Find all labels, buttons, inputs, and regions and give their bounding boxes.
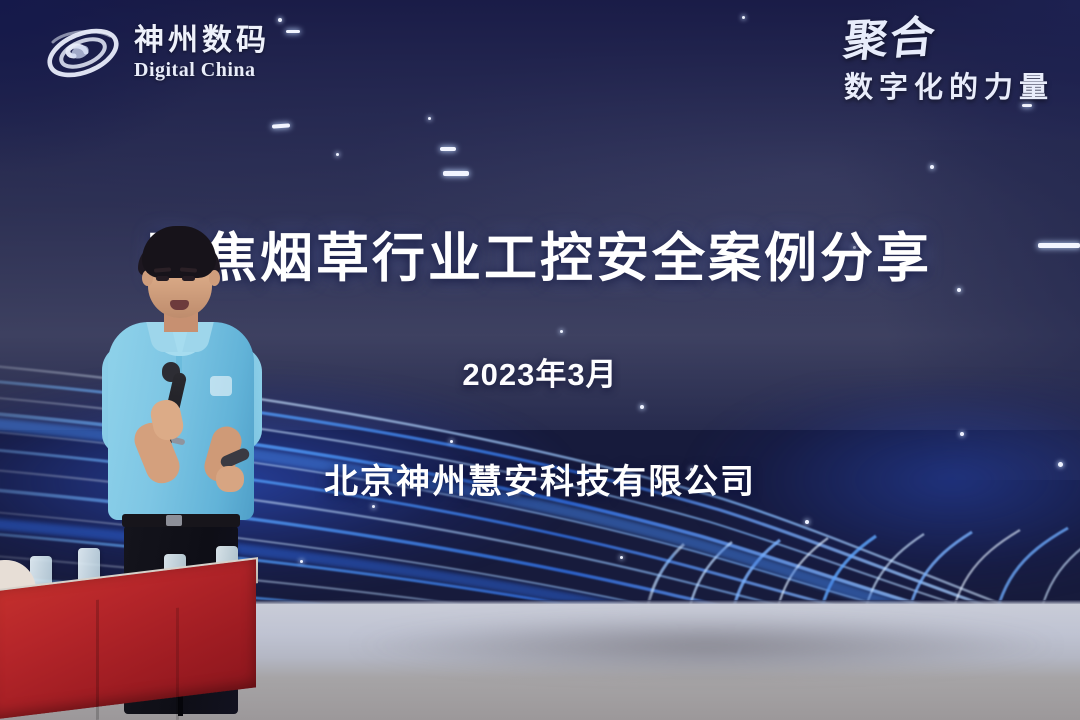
- speaker-right-hand: [216, 466, 244, 492]
- event-theme-lockup: 聚合 数字化的力量: [844, 18, 1054, 106]
- logo-name-en: Digital China: [134, 60, 270, 80]
- speaker-belt-buckle: [166, 515, 182, 526]
- speaker-eye-right: [182, 276, 195, 281]
- particle-dot: [805, 520, 809, 524]
- light-streak-particle: [286, 30, 300, 33]
- event-theme-tagline: 数字化的力量: [844, 64, 1054, 106]
- particle-dot: [336, 153, 339, 156]
- particle-dot: [640, 405, 644, 409]
- speaker-mouth: [170, 300, 189, 310]
- particle-dot: [428, 117, 431, 120]
- particle-dot: [930, 165, 934, 169]
- table-cloth-fold: [96, 600, 99, 720]
- table-cloth-fold: [176, 608, 179, 720]
- light-streak-particle: [443, 171, 469, 176]
- stage-floor-shadow: [250, 610, 1080, 680]
- conference-photo: 聚焦烟草行业工控安全案例分享 2023年3月 北京神州慧安科技有限公司 神州数码…: [0, 0, 1080, 720]
- particle-dot: [742, 16, 745, 19]
- particle-dot: [372, 505, 375, 508]
- particle-dot: [278, 18, 282, 22]
- particle-dot: [960, 432, 964, 436]
- speaker-eye-left: [156, 276, 169, 281]
- logo-name-cn: 神州数码: [134, 26, 270, 56]
- digital-china-swirl-icon: [44, 22, 122, 84]
- particle-dot: [450, 440, 453, 443]
- particle-dot: [560, 330, 563, 333]
- speaker-face-shading: [148, 276, 212, 318]
- event-theme-calligraphy: 聚合: [841, 16, 938, 65]
- speaker-shirt-logo: [210, 376, 232, 396]
- light-streak-particle: [440, 147, 456, 151]
- particle-dot: [300, 560, 303, 563]
- digital-china-wordmark: 神州数码 Digital China: [134, 26, 270, 80]
- particle-dot: [620, 556, 623, 559]
- digital-china-logo: 神州数码 Digital China: [44, 22, 270, 84]
